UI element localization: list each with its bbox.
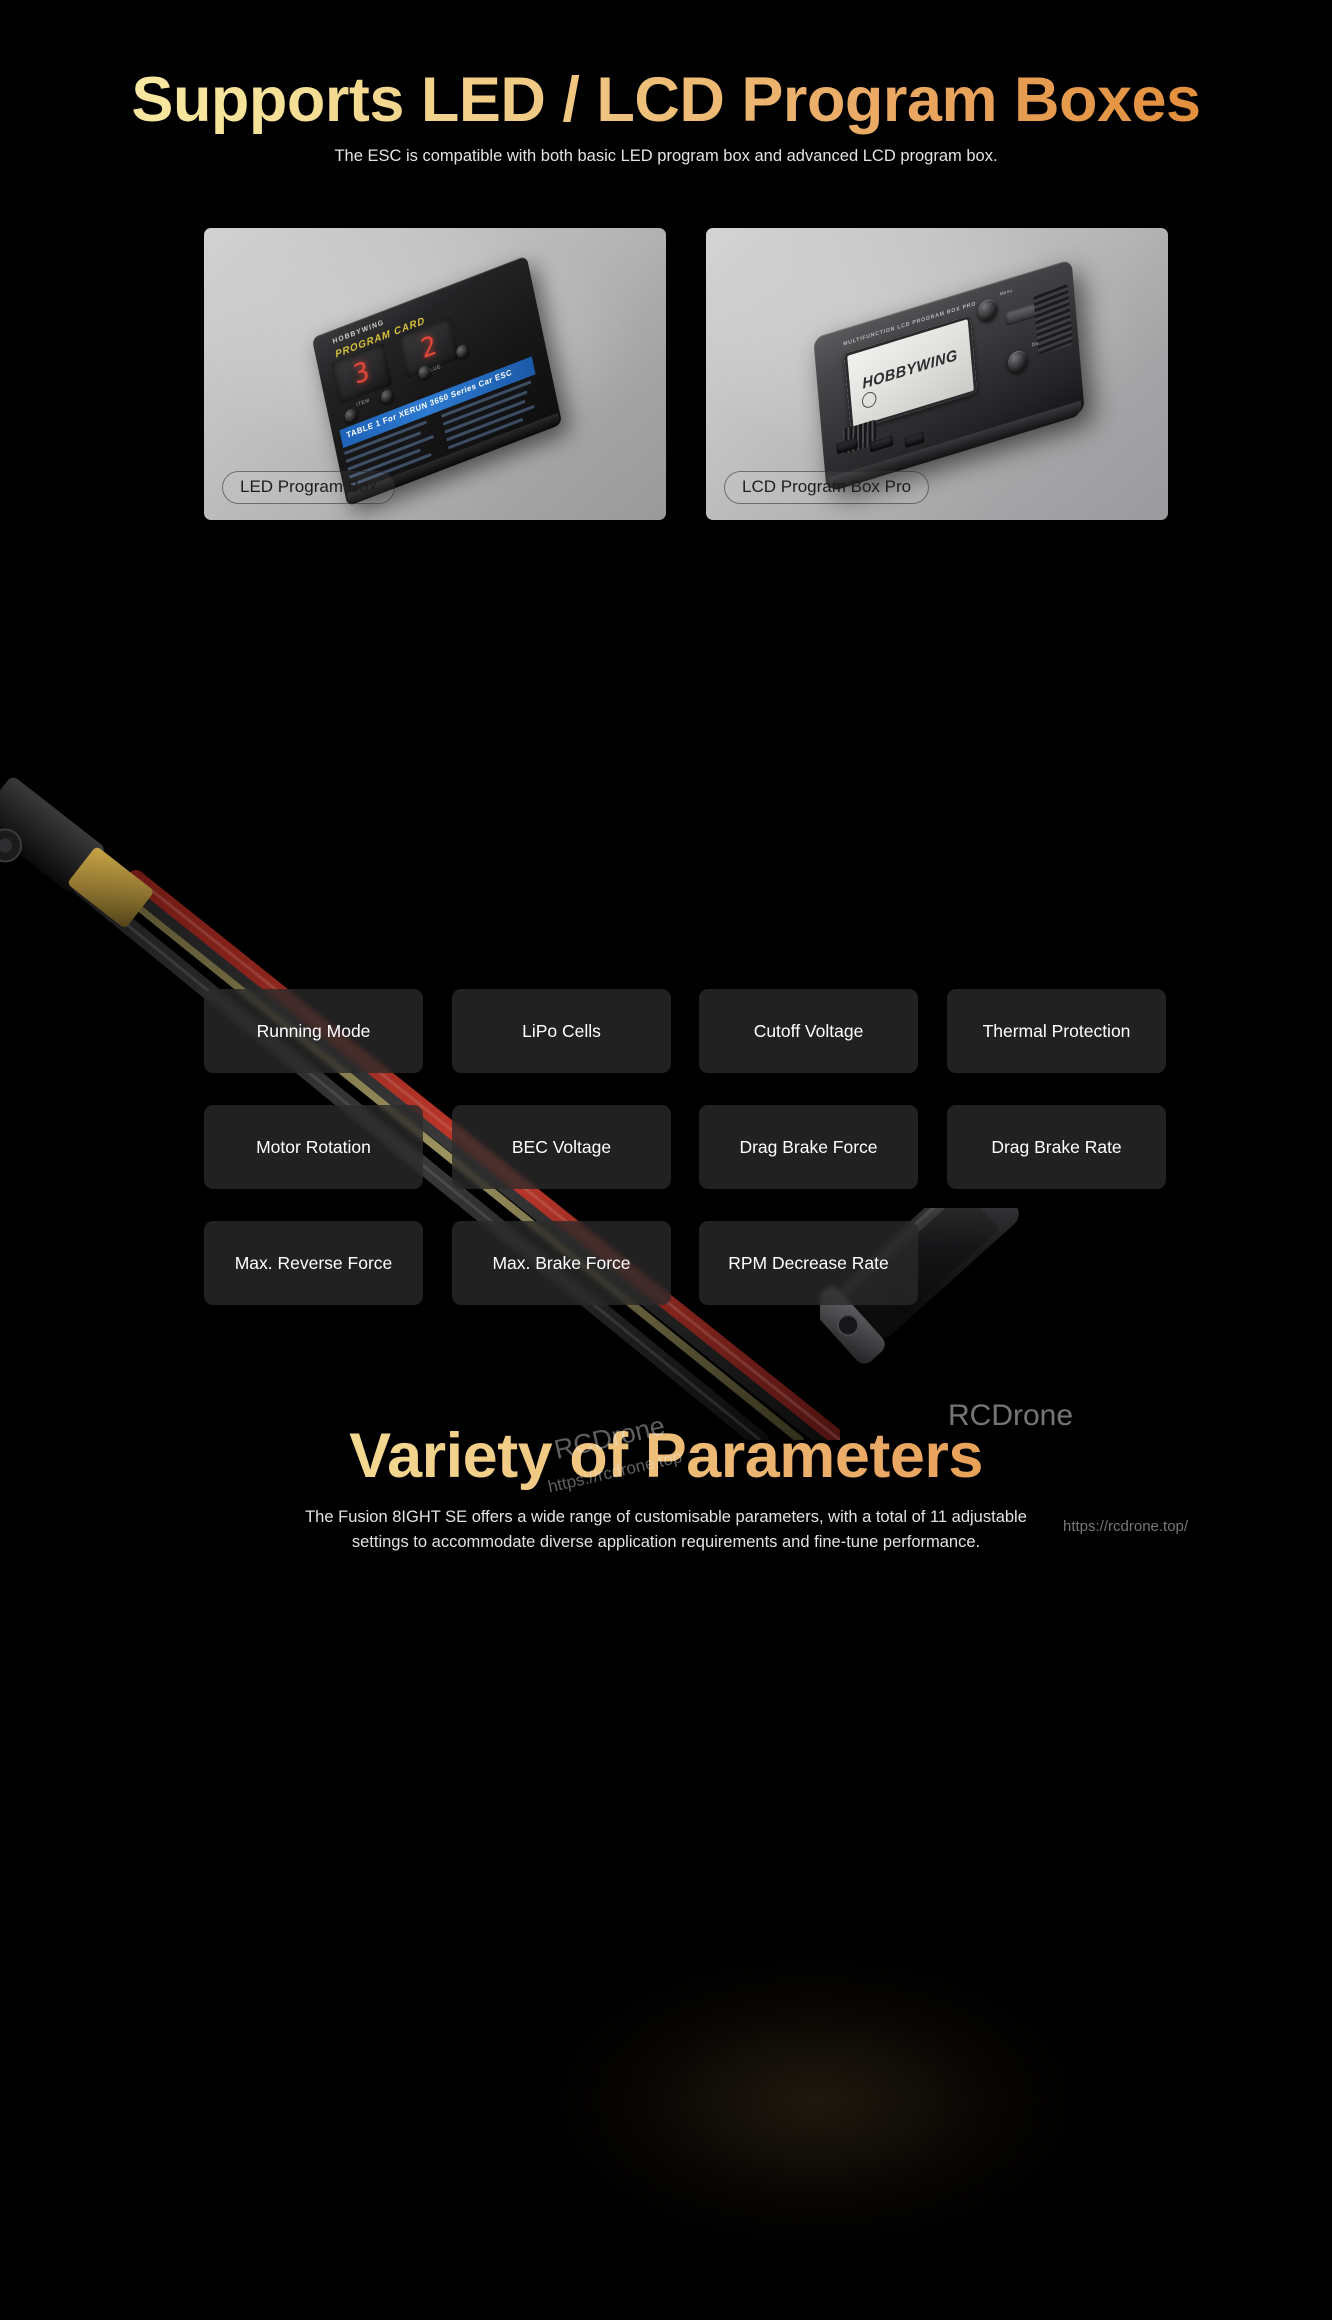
parameter-tile-max-reverse-force[interactable]: Max. Reverse Force [204,1221,423,1305]
led-program-box-card[interactable]: HOBBYWING PROGRAM CARD 3 2 ITEM VALUE TA… [204,228,666,520]
battery-wires-image [0,720,840,1440]
lcd-program-box-pro-label: LCD Program Box Pro [724,471,929,504]
section-led-title: Supports LED / LCD Program Boxes [0,64,1332,136]
parameter-tile-max-brake-force[interactable]: Max. Brake Force [452,1221,671,1305]
parameter-tile-drag-brake-rate[interactable]: Drag Brake Rate [947,1105,1166,1189]
led-display-value-value: 2 [418,330,439,365]
parameter-tile-rpm-decrease-rate[interactable]: RPM Decrease Rate [699,1221,918,1305]
parameter-tile-drag-brake-force[interactable]: Drag Brake Force [699,1105,918,1189]
watermark-motor-brand: RCDrone [948,1399,1073,1433]
parameter-tile-bec-voltage[interactable]: BEC Voltage [452,1105,671,1189]
bottom-glow [420,1900,1180,2320]
section-params-subtitle-line2: settings to accommodate diverse applicat… [0,1533,1332,1552]
lcd-program-box-pro-card[interactable]: MULTIFUNCTION LCD PROGRAM BOX PRO HOBBYW… [706,228,1168,520]
supports-program-boxes-section: Supports LED / LCD Program Boxes The ESC… [0,0,1332,660]
lcd-heat-fins [1033,283,1073,355]
parameter-tile-thermal-protection[interactable]: Thermal Protection [947,989,1166,1073]
section-led-subtitle: The ESC is compatible with both basic LE… [0,147,1332,166]
variety-of-parameters-section: Variety of Parameters RCDrone https://rc… [0,660,1332,1659]
hobbywing-logo-icon [861,390,877,410]
led-display-item-value: 3 [351,356,372,391]
parameter-tile-running-mode[interactable]: Running Mode [204,989,423,1073]
parameter-tile-motor-rotation[interactable]: Motor Rotation [204,1105,423,1189]
lcd-screen-brand: HOBBYWING [862,346,959,392]
parameter-tile-lipo-cells[interactable]: LiPo Cells [452,989,671,1073]
led-program-box-label: LED Program Box [222,471,395,504]
footer-url: https://rcdrone.top/ [1063,1518,1188,1535]
parameter-tile-cutoff-voltage[interactable]: Cutoff Voltage [699,989,918,1073]
